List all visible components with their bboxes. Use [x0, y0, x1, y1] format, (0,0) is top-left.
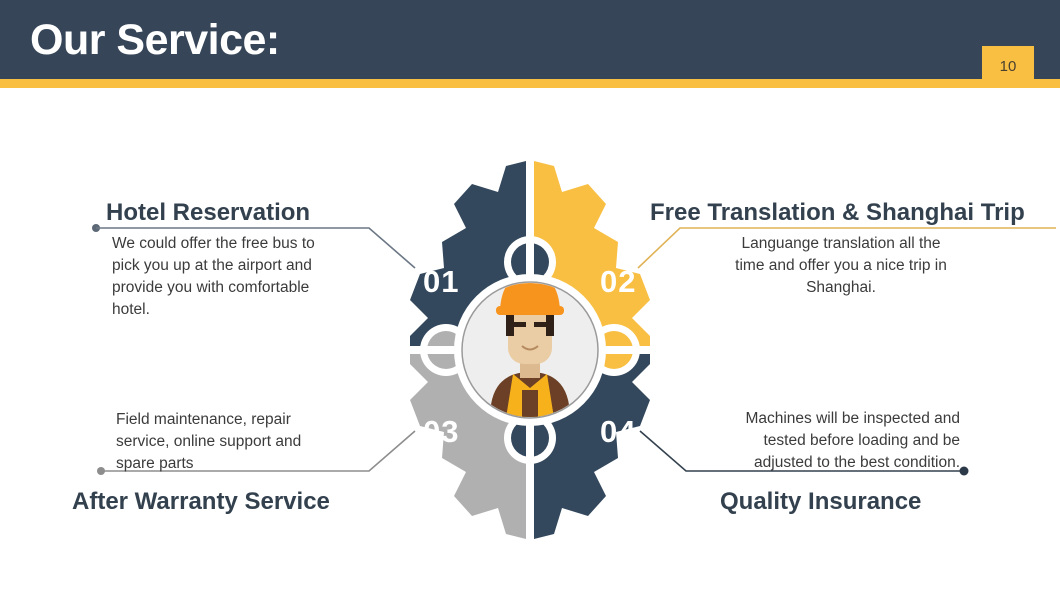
gear-number-04: 04: [600, 414, 636, 450]
connector-dot-04: [960, 467, 969, 476]
avatar-hair-left: [506, 312, 514, 336]
avatar-hair-right: [546, 312, 554, 336]
page-title: Our Service:: [30, 16, 280, 65]
avatar-vest-inner: [522, 390, 538, 418]
avatar-eye-right: [534, 322, 546, 327]
gear-number-01: 01: [423, 264, 459, 300]
item-heading-quality-insurance: Quality Insurance: [720, 488, 921, 516]
item-heading-free-translation: Free Translation & Shanghai Trip: [650, 199, 1025, 227]
avatar-face: [508, 308, 552, 364]
page-number-label: 10: [1000, 58, 1017, 75]
gear-number-02: 02: [600, 264, 636, 300]
item-body-quality-insurance: Machines will be inspected and tested be…: [730, 408, 960, 474]
avatar-helmet-brim: [496, 306, 564, 315]
item-body-free-translation: Languange translation all the time and o…: [726, 233, 956, 299]
connector-dot-03: [97, 467, 105, 475]
item-heading-hotel-reservation: Hotel Reservation: [106, 199, 310, 227]
gear-number-03: 03: [423, 414, 459, 450]
item-heading-after-warranty-service: After Warranty Service: [72, 488, 330, 516]
connector-dot-01: [92, 224, 100, 232]
slide-canvas: Our Service: 10: [0, 0, 1060, 596]
header-accent-bar: [0, 79, 1060, 88]
item-body-hotel-reservation: We could offer the free bus to pick you …: [112, 233, 342, 321]
item-body-after-warranty-service: Field maintenance, repair service, onlin…: [116, 409, 326, 475]
avatar-eye-left: [514, 322, 526, 327]
